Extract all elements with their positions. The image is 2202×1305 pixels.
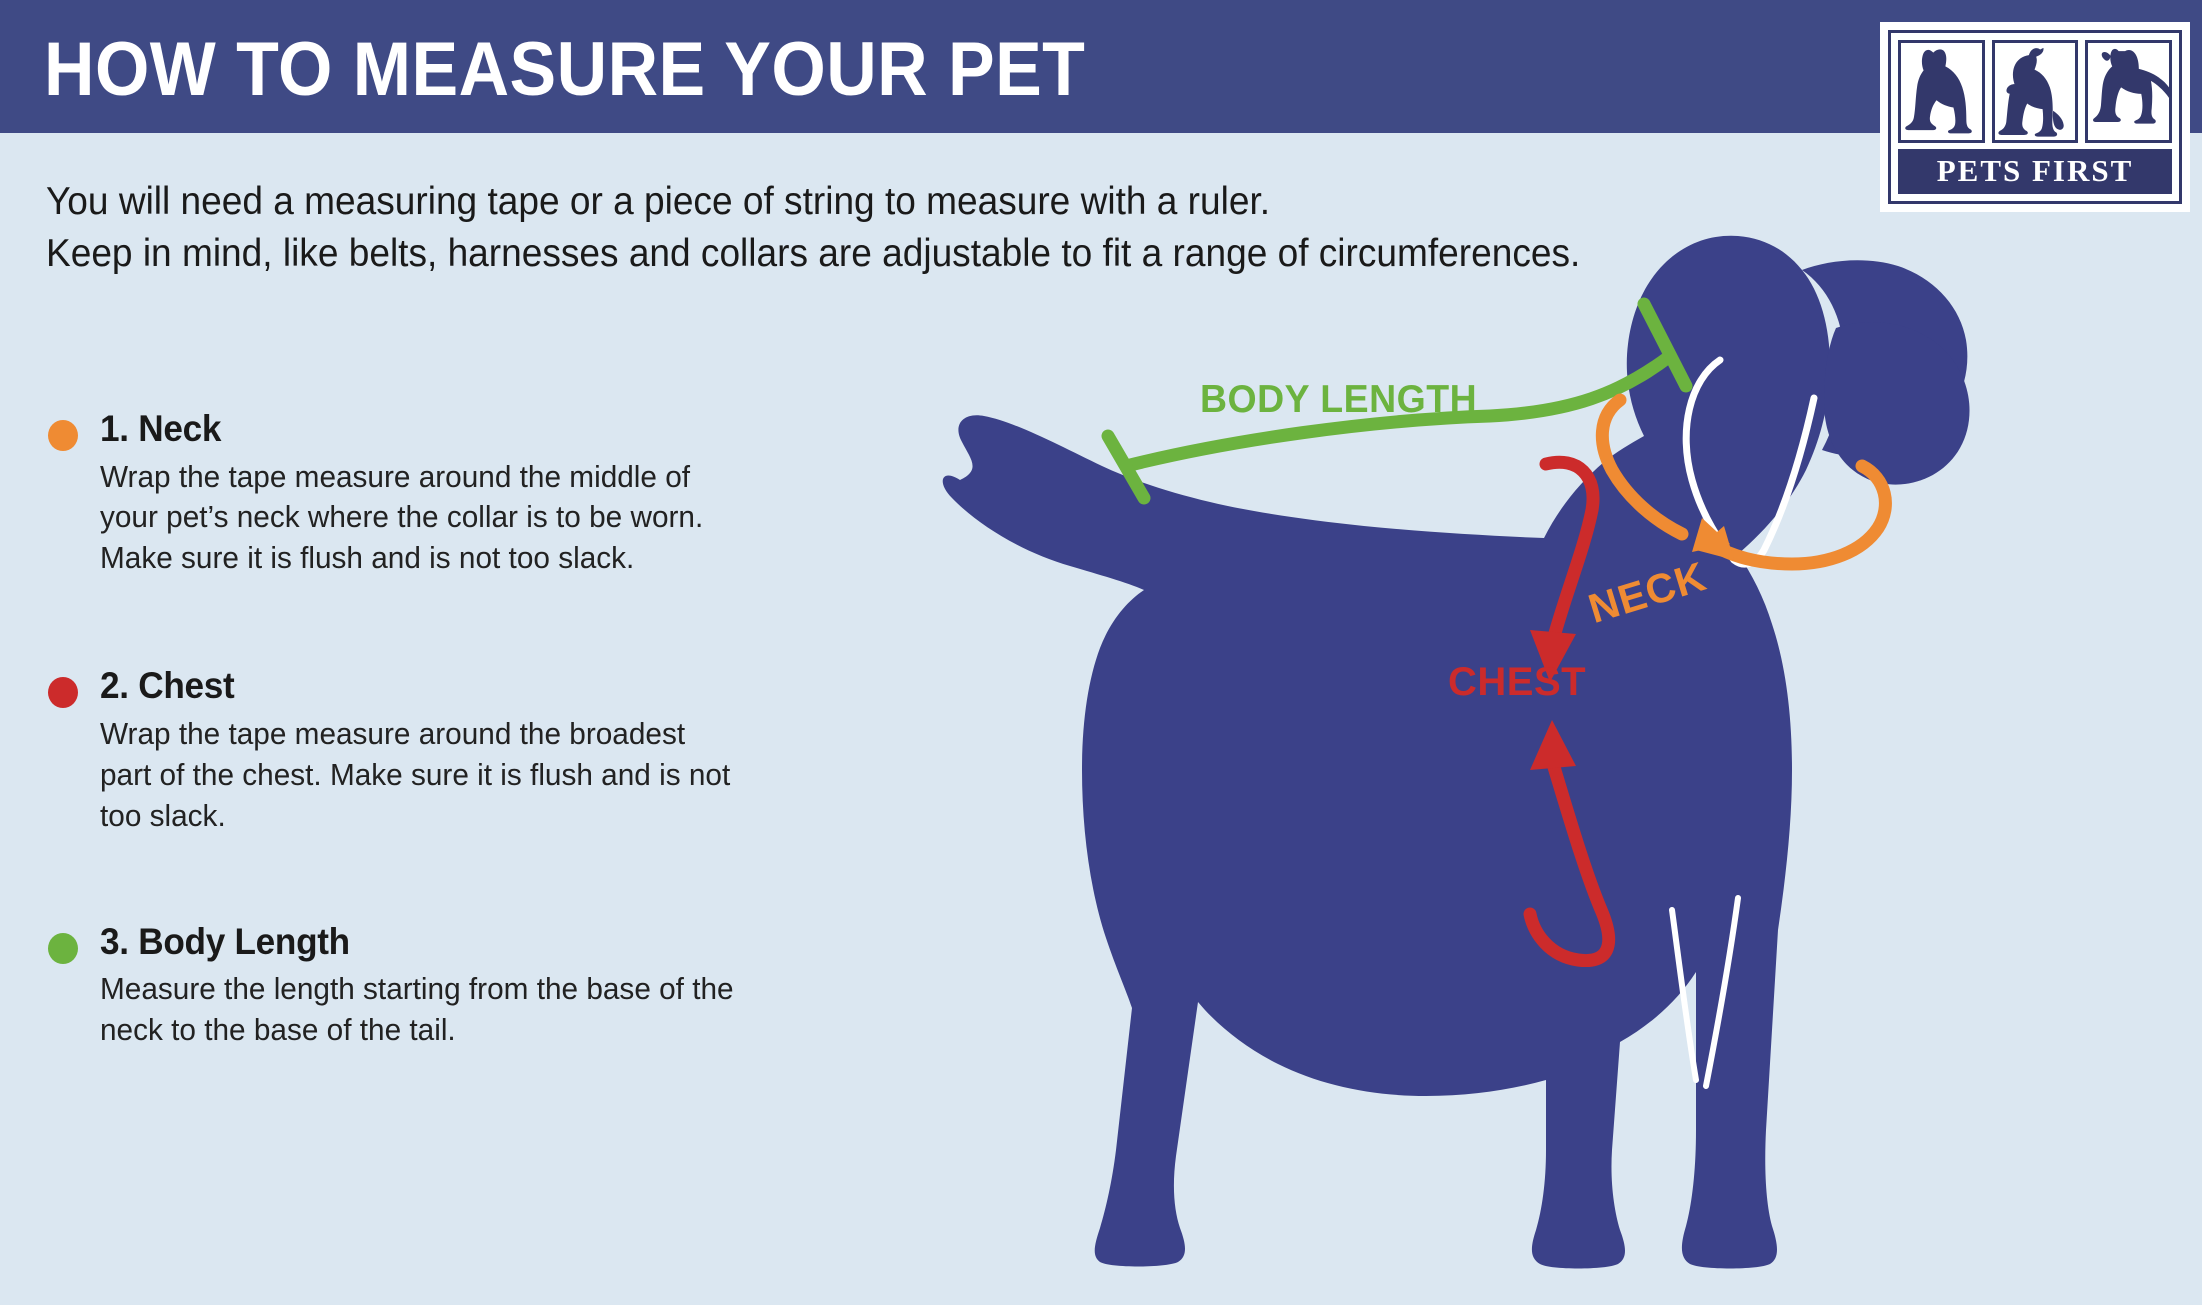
measurement-steps-list: 1. Neck Wrap the tape measure around the… xyxy=(44,408,744,1051)
logo-frame: PETS FIRST xyxy=(1888,30,2182,204)
label-chest: CHEST xyxy=(1448,660,1586,705)
logo-icon-row xyxy=(1898,40,2172,143)
bullet-neck xyxy=(48,420,78,451)
step-title-chest: 2. Chest xyxy=(100,665,712,708)
pets-first-logo[interactable]: PETS FIRST xyxy=(1880,22,2190,212)
dog-measurement-diagram: BODY LENGTH NECK CHEST xyxy=(930,230,2202,1305)
page-title: HOW TO MEASURE YOUR PET xyxy=(44,26,1085,113)
step-description-chest: Wrap the tape measure around the broades… xyxy=(100,714,743,837)
step-description-neck: Wrap the tape measure around the middle … xyxy=(100,457,743,580)
step-item-chest: 2. Chest Wrap the tape measure around th… xyxy=(44,665,744,836)
standing-dog-silhouette-icon xyxy=(2085,40,2172,143)
label-body-length: BODY LENGTH xyxy=(1200,378,1477,422)
step-title-body-length: 3. Body Length xyxy=(100,921,712,964)
step-item-body-length: 3. Body Length Measure the length starti… xyxy=(44,921,744,1051)
bullet-body-length xyxy=(48,933,78,964)
begging-dog-silhouette-icon xyxy=(1992,40,2079,143)
step-item-neck: 1. Neck Wrap the tape measure around the… xyxy=(44,408,744,579)
step-description-body-length: Measure the length starting from the bas… xyxy=(100,969,743,1051)
sitting-dog-silhouette-icon xyxy=(1898,40,1985,143)
logo-brand-text: PETS FIRST xyxy=(1937,153,2134,189)
logo-name-band: PETS FIRST xyxy=(1898,149,2172,194)
intro-line-1: You will need a measuring tape or a piec… xyxy=(46,176,1661,228)
step-title-neck: 1. Neck xyxy=(100,408,712,451)
